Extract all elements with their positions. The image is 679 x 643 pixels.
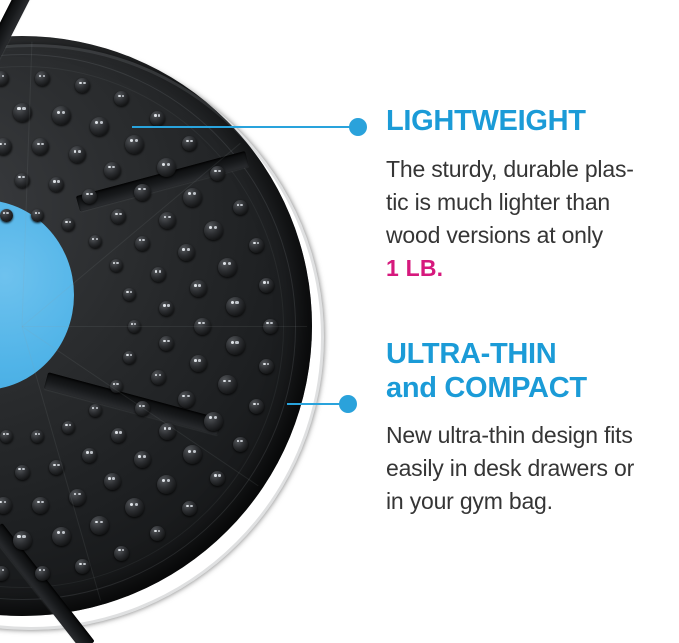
board-dimple (157, 475, 176, 494)
board-dimple (123, 288, 136, 301)
feature-body-line: easily in desk drawers or (386, 455, 634, 481)
feature-block-lightweight: LIGHTWEIGHT The sturdy, durable plas- ti… (386, 104, 679, 285)
callout-line-lightweight (132, 126, 350, 128)
board-dimple (190, 355, 207, 372)
feature-body-line: New ultra-thin design fits (386, 422, 633, 448)
disc-sector-divider (22, 326, 307, 327)
board-dimple (226, 336, 245, 355)
board-dimple (0, 497, 12, 514)
board-dimple (90, 516, 109, 535)
board-dimple (31, 209, 44, 222)
board-dimple (249, 399, 264, 414)
board-dimple (204, 412, 223, 431)
callout-line-ultra-thin (287, 403, 342, 405)
feature-heading-ultra-thin-line-2: and COMPACT (386, 371, 679, 405)
board-dimple (183, 188, 202, 207)
feature-body-ultra-thin: New ultra-thin design fits easily in des… (386, 419, 679, 518)
board-dimple (210, 471, 225, 486)
board-dimple (35, 566, 50, 581)
board-dimple (233, 437, 248, 452)
board-dimple (159, 212, 176, 229)
board-dimple (249, 238, 264, 253)
board-dimple (233, 200, 248, 215)
feature-text-column: LIGHTWEIGHT The sturdy, durable plas- ti… (386, 0, 679, 643)
board-dimple (89, 404, 102, 417)
feature-heading-lightweight: LIGHTWEIGHT (386, 104, 679, 138)
board-dimple (52, 106, 71, 125)
board-dimple (151, 267, 166, 282)
board-dimple (125, 135, 144, 154)
board-dimple (15, 465, 30, 480)
board-dimple (150, 111, 165, 126)
board-dimple (89, 235, 102, 248)
board-dimple (0, 430, 13, 443)
product-photo-balance-board (0, 0, 330, 643)
board-dimple (90, 117, 109, 136)
board-dimple (259, 278, 274, 293)
feature-body-lightweight: The sturdy, durable plas- tic is much li… (386, 153, 679, 285)
board-dimple (62, 218, 75, 231)
feature-body-line: in your gym bag. (386, 488, 553, 514)
board-dimple (178, 391, 195, 408)
feature-block-ultra-thin: ULTRA-THIN and COMPACT New ultra-thin de… (386, 337, 679, 518)
board-dimple (226, 297, 245, 316)
board-dimple (104, 162, 121, 179)
feature-body-line: tic is much lighter than (386, 189, 610, 215)
board-dimple (157, 158, 176, 177)
board-dimple (135, 236, 150, 251)
board-dimple (134, 184, 151, 201)
feature-body-line: wood versions at only (386, 222, 603, 248)
board-dimple (104, 473, 121, 490)
board-dimple (13, 531, 32, 550)
feature-highlight-weight: 1 LB. (386, 252, 679, 285)
board-dimple (0, 209, 13, 222)
feature-heading-ultra-thin-line-1: ULTRA-THIN (386, 337, 679, 371)
board-dimple (110, 259, 123, 272)
feature-body-line: The sturdy, durable plas- (386, 156, 634, 182)
board-dimple (190, 280, 207, 297)
callout-dot-lightweight (349, 118, 367, 136)
board-dimple (32, 497, 49, 514)
infographic-canvas: LIGHTWEIGHT The sturdy, durable plas- ti… (0, 0, 679, 643)
board-dimple (52, 527, 71, 546)
board-dimple (123, 351, 136, 364)
board-dimple (114, 546, 129, 561)
callout-dot-ultra-thin (339, 395, 357, 413)
